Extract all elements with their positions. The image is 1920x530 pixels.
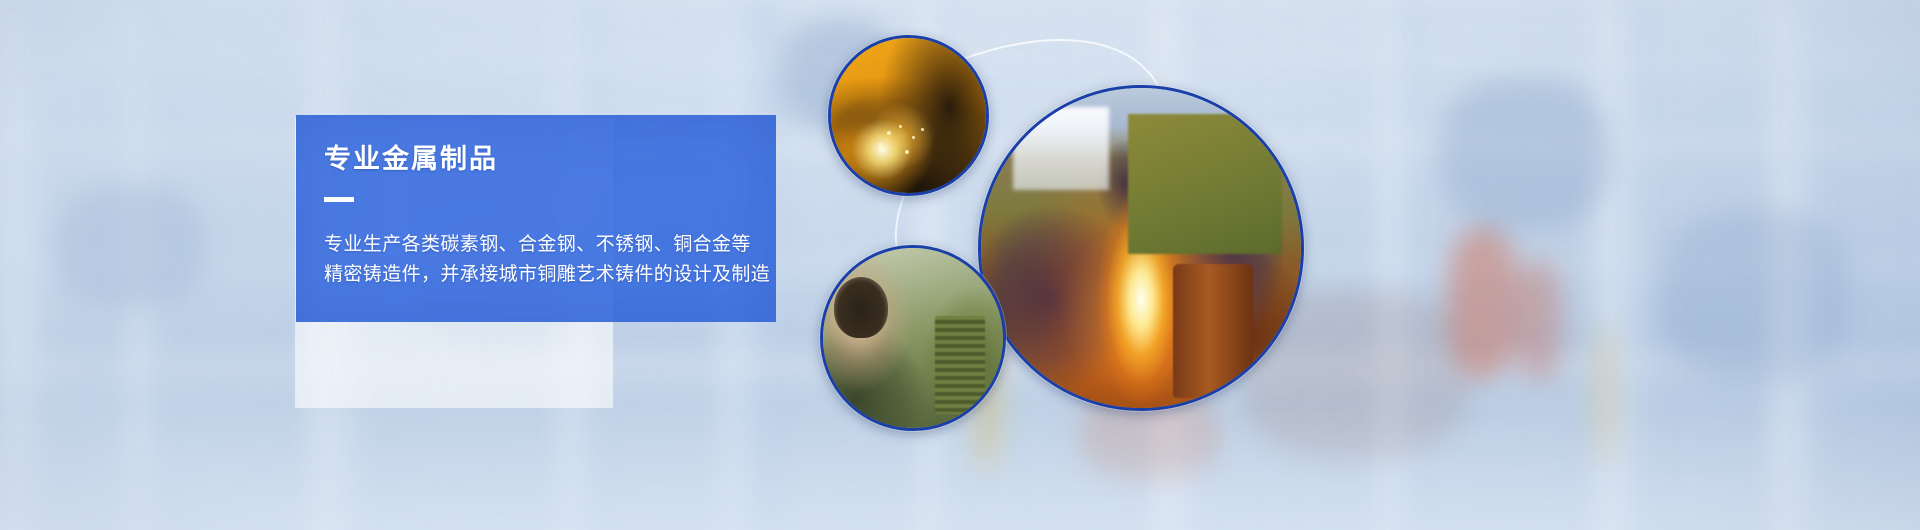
metal-drum: [1173, 264, 1253, 398]
spark-dot: [878, 143, 883, 148]
description-line-2: 精密铸造件，并承接城市铜雕艺术铸件的设计及制造: [324, 260, 776, 291]
welding-photo-circle: [828, 35, 989, 196]
foundry-pour-photo: [981, 88, 1301, 408]
casting-rack: [935, 316, 985, 413]
welding-photo: [831, 38, 986, 193]
text-panel: 专业金属制品 专业生产各类碳素钢、合金钢、不锈钢、铜合金等 精密铸造件，并承接城…: [296, 115, 776, 322]
banner-title: 专业金属制品: [324, 145, 776, 175]
spark-dot: [912, 136, 915, 139]
foundry-pour-photo-circle: [978, 85, 1304, 411]
worker-head: [834, 277, 888, 338]
description-line-1: 专业生产各类碳素钢、合金钢、不锈钢、铜合金等: [324, 230, 776, 261]
text-panel-inner: 专业金属制品 专业生产各类碳素钢、合金钢、不锈钢、铜合金等 精密铸造件，并承接城…: [296, 115, 776, 291]
inspection-photo-circle: [820, 245, 1006, 431]
workshop-cabinet: [1128, 114, 1282, 255]
title-divider: [324, 197, 354, 202]
inspection-photo: [823, 248, 1003, 428]
banner-description: 专业生产各类碳素钢、合金钢、不锈钢、铜合金等 精密铸造件，并承接城市铜雕艺术铸件…: [324, 230, 776, 292]
hero-banner: 专业金属制品 专业生产各类碳素钢、合金钢、不锈钢、铜合金等 精密铸造件，并承接城…: [0, 0, 1920, 530]
spark-dot: [921, 128, 924, 131]
spark-dot: [887, 131, 891, 135]
workshop-window: [1013, 107, 1109, 190]
photo-circle-cluster: [810, 0, 1430, 530]
spark-dot: [899, 125, 902, 128]
